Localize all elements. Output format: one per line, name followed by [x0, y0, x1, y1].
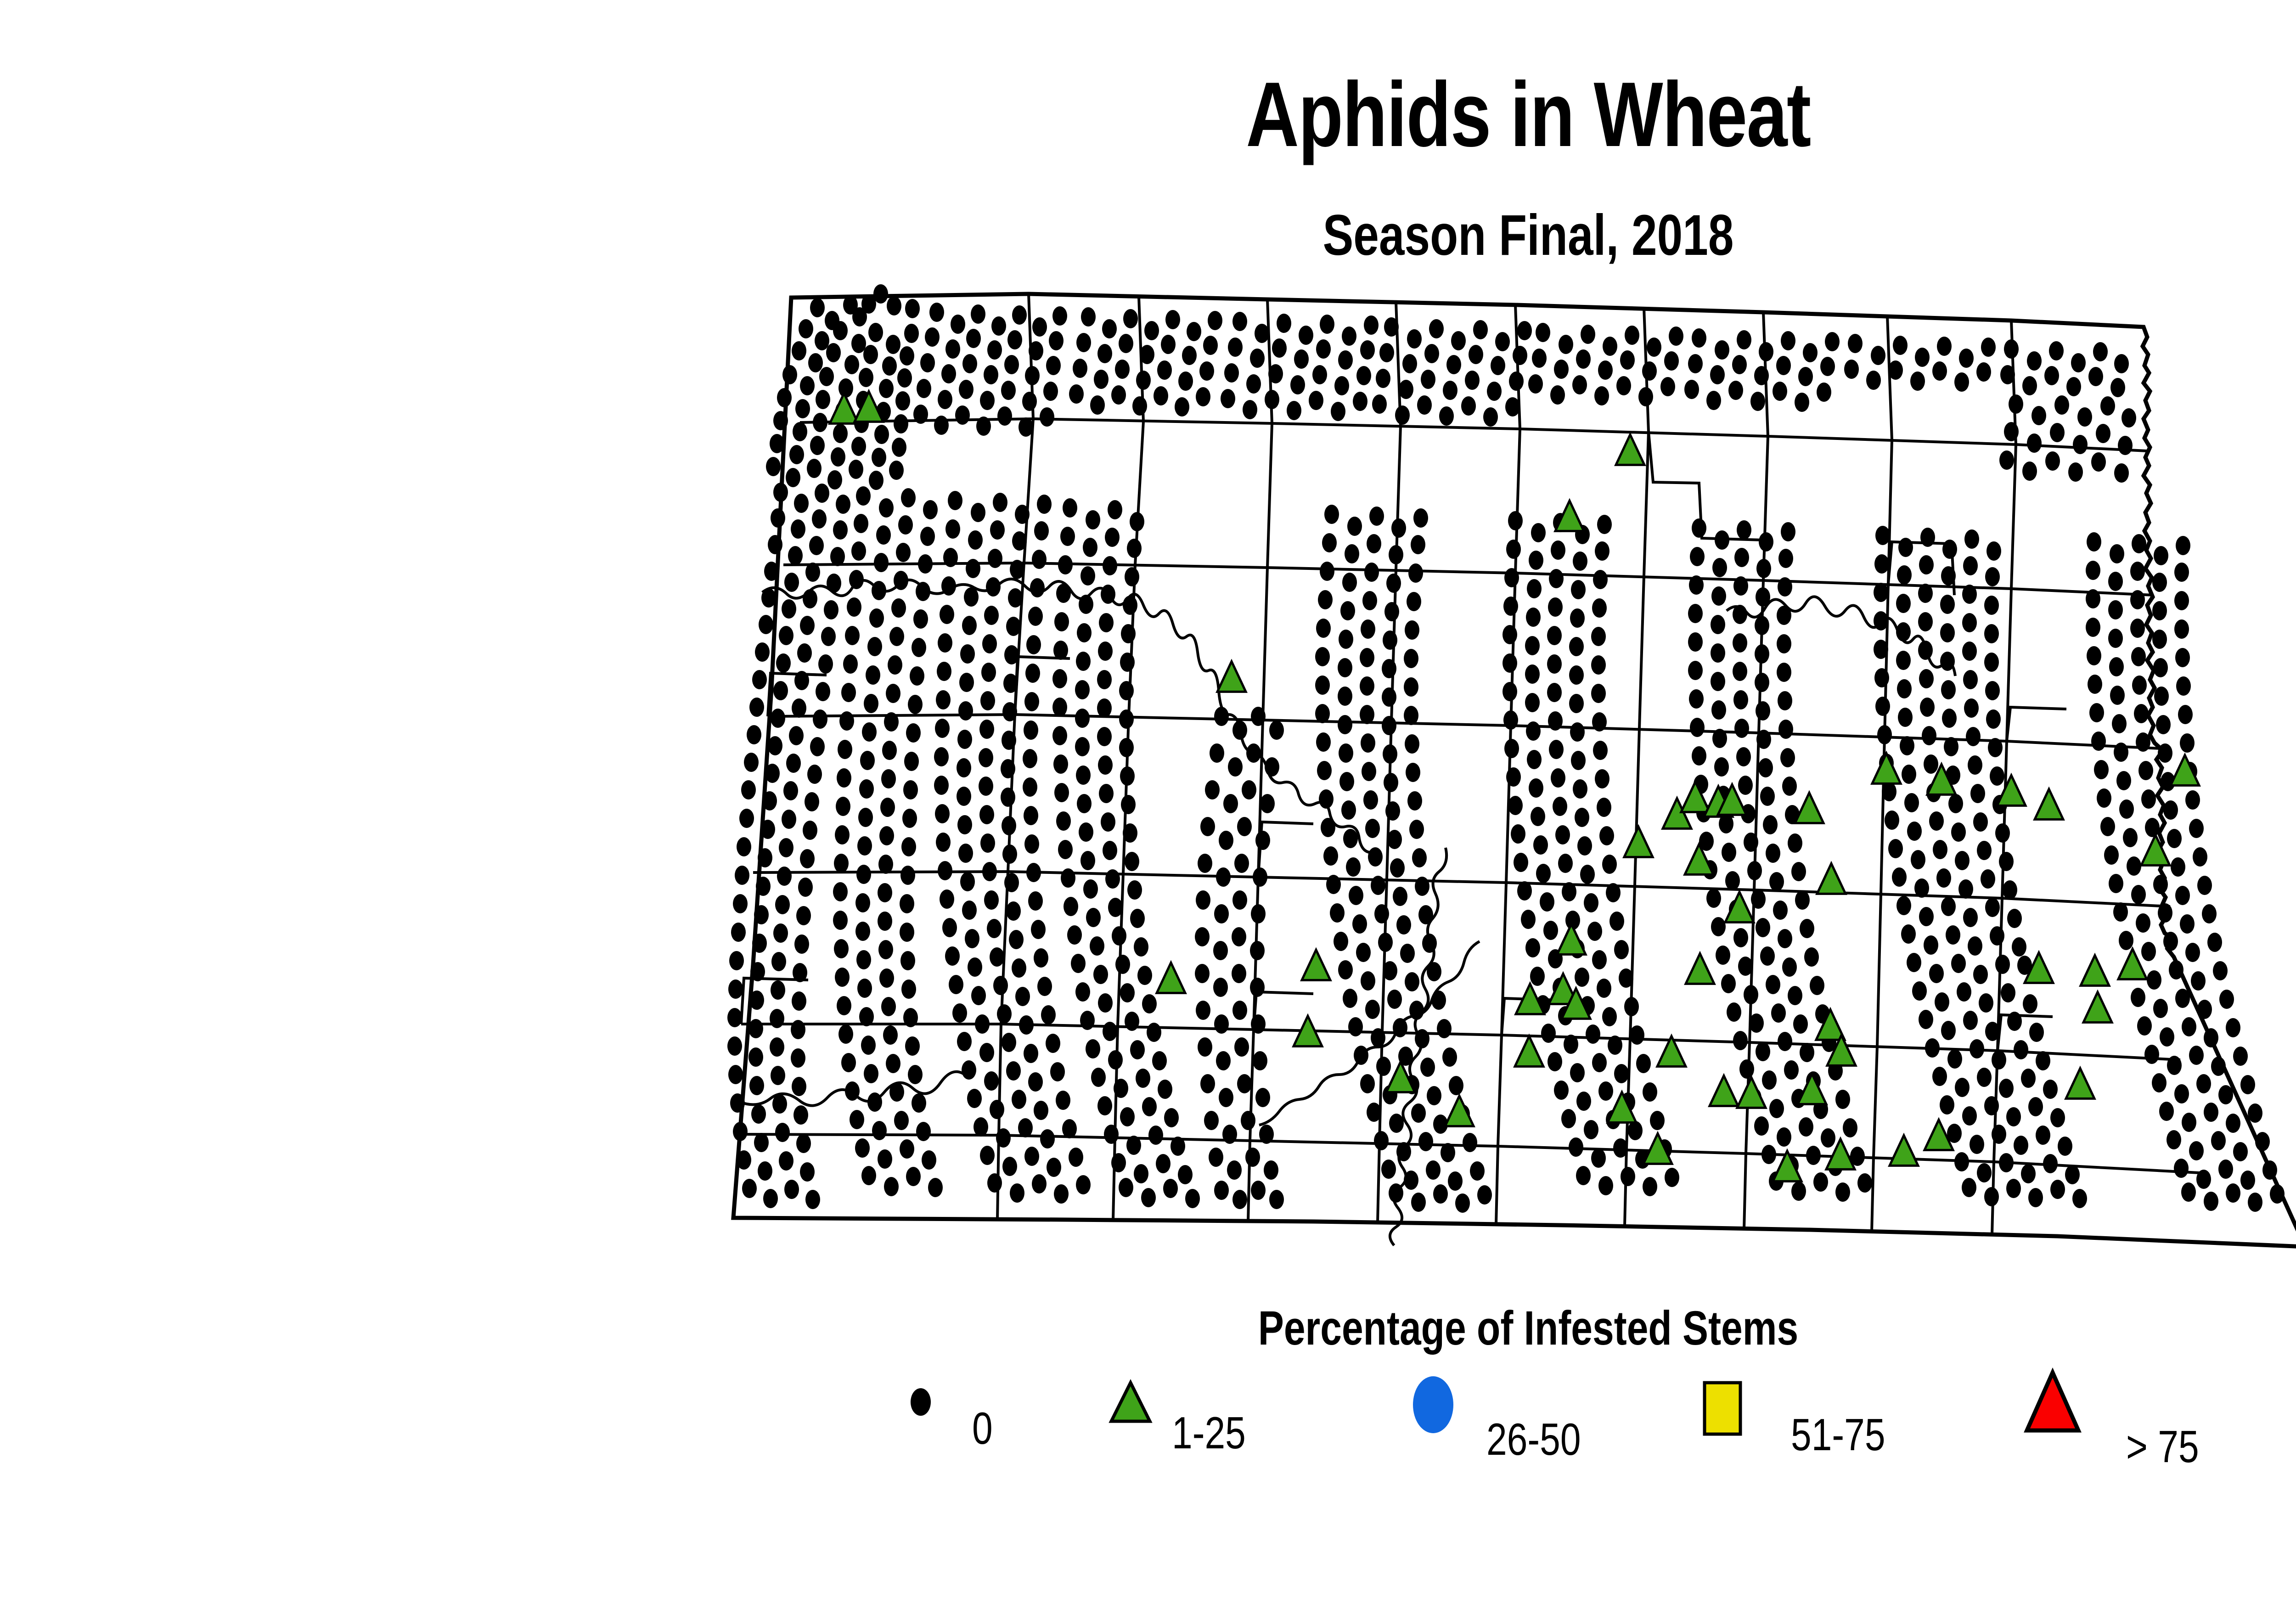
legend: 0 1-25 26-50 51-75 > 75 [0, 1366, 2296, 1458]
data-point [2152, 630, 2167, 649]
data-point [805, 1190, 820, 1209]
data-point [1114, 1079, 1128, 1098]
data-point [862, 722, 877, 742]
data-point [1548, 597, 1563, 617]
data-point [1751, 889, 1766, 909]
data-point [888, 655, 902, 675]
data-point [1554, 1081, 1569, 1100]
data-point [1981, 338, 1996, 357]
data-point [1684, 380, 1699, 399]
data-point [2240, 1075, 2255, 1094]
data-point [938, 390, 952, 409]
data-point [943, 548, 958, 567]
data-point [957, 787, 971, 806]
data-point [1120, 766, 1135, 786]
data-point [1374, 904, 1389, 923]
data-point [859, 779, 874, 799]
data-point [1580, 865, 1595, 884]
data-point [1360, 1074, 1375, 1093]
data-point [809, 536, 824, 555]
data-point [1597, 798, 1611, 817]
data-point [1004, 873, 1019, 892]
data-point [1940, 1095, 1954, 1115]
data-point [2270, 1184, 2285, 1204]
data-point [762, 791, 777, 811]
data-point [984, 1071, 999, 1091]
data-point [1778, 577, 1792, 597]
data-point [1877, 725, 1892, 744]
data-point [836, 495, 850, 514]
data-point [1237, 817, 1252, 836]
data-point [1595, 769, 1609, 788]
data-point [1714, 757, 1729, 777]
data-point [1404, 649, 1418, 668]
data-point [764, 562, 779, 581]
data-point [1024, 1147, 1039, 1166]
data-point [1722, 843, 1736, 862]
data-point [958, 844, 973, 863]
data-point [2233, 1142, 2248, 1161]
data-point [737, 1150, 751, 1170]
data-point [1784, 1060, 1799, 1080]
data-point [748, 1019, 763, 1038]
data-point [1898, 538, 1913, 557]
data-point [1733, 690, 1748, 709]
data-point [1043, 382, 1058, 401]
data-point [1782, 777, 1797, 796]
data-point [1378, 933, 1393, 952]
data-point [1086, 510, 1100, 529]
data-point [2127, 856, 2141, 876]
data-point [2176, 676, 2191, 696]
data-point [827, 574, 841, 593]
data-point [896, 543, 911, 562]
data-point [1736, 747, 1751, 766]
data-point [1575, 808, 1589, 827]
data-point [1555, 825, 1570, 844]
data-point [965, 929, 979, 948]
data-point [1503, 625, 1517, 644]
data-point [1727, 1002, 1741, 1022]
data-point [1955, 1078, 1970, 1097]
data-point [1331, 402, 1345, 421]
data-point [971, 986, 986, 1005]
data-point [1793, 1014, 1808, 1034]
data-point [979, 805, 994, 824]
data-point [1606, 883, 1621, 902]
data-point [1690, 547, 1705, 566]
data-point [1777, 663, 1791, 682]
data-point [755, 642, 770, 662]
data-point [1214, 1181, 1229, 1200]
data-point [1755, 673, 1769, 692]
data-point [1053, 754, 1068, 774]
data-point [967, 1089, 982, 1108]
data-point [878, 912, 892, 931]
data-point [2141, 789, 2156, 809]
data-point [1941, 566, 1956, 585]
data-point [1384, 602, 1399, 621]
data-point [2068, 462, 2083, 482]
data-point [2044, 366, 2059, 385]
data-point [1342, 573, 1357, 592]
data-point [2086, 589, 2100, 608]
data-point [1097, 344, 1112, 363]
data-point [874, 553, 889, 572]
data-point [1733, 1031, 1748, 1050]
data-point [1728, 381, 1743, 400]
data-point [1251, 904, 1266, 923]
data-point [1985, 567, 2000, 586]
data-point [1374, 1131, 1389, 1150]
data-point [1237, 1074, 1252, 1093]
data-point [916, 1122, 931, 1141]
data-point [1874, 668, 1889, 687]
data-point [771, 1066, 785, 1085]
data-point [1451, 331, 1466, 350]
data-point [1918, 641, 1933, 660]
data-point [2207, 933, 2222, 952]
data-point [1213, 978, 1228, 997]
data-point [869, 471, 884, 490]
data-point [1689, 575, 1704, 595]
data-point [1411, 1103, 1426, 1123]
data-point [835, 825, 850, 844]
data-point [902, 809, 917, 828]
data-point [997, 406, 1012, 426]
data-point [766, 457, 781, 476]
data-point [1968, 755, 1982, 775]
data-point [1196, 1001, 1210, 1020]
data-point [940, 605, 954, 624]
data-point [1584, 893, 1598, 912]
data-point [1338, 960, 1353, 980]
data-point [1384, 773, 1398, 792]
data-point [1744, 985, 1758, 1004]
data-point [1429, 319, 1444, 338]
data-point [922, 1150, 936, 1170]
data-point [1067, 925, 1082, 945]
data-point [800, 849, 815, 868]
data-point [810, 298, 825, 317]
data-point [952, 1003, 967, 1023]
data-point [876, 525, 891, 545]
data-point [2211, 1131, 2226, 1150]
data-point [1985, 681, 2000, 700]
data-point [851, 437, 866, 456]
data-point [1046, 1034, 1060, 1053]
data-point [1907, 822, 1922, 841]
data-point [2130, 590, 2145, 609]
data-point [1477, 1185, 1492, 1205]
data-point [1495, 332, 1510, 351]
data-point [798, 878, 813, 897]
data-point [1101, 812, 1115, 832]
data-point [1798, 367, 1813, 386]
data-point [1763, 815, 1778, 834]
data-point [1506, 767, 1521, 787]
data-point [1290, 375, 1305, 394]
county-line-v-59 [1496, 1146, 1498, 1224]
data-point [1595, 541, 1609, 561]
data-point [1103, 1022, 1117, 1041]
data-point [1026, 635, 1041, 654]
data-point [1591, 655, 1606, 675]
data-point [1272, 338, 1287, 358]
data-point [2141, 942, 2156, 961]
data-point [771, 709, 785, 728]
data-point [758, 1161, 772, 1181]
data-point [948, 491, 962, 510]
data-point [1919, 555, 1934, 574]
data-point [1487, 382, 1502, 401]
data-point [1962, 1178, 1976, 1197]
data-point [1338, 350, 1353, 370]
data-point [912, 638, 926, 657]
data-point [849, 570, 864, 589]
data-point [1001, 788, 1015, 807]
data-point [1759, 342, 1773, 361]
data-point [2109, 874, 2123, 893]
data-point [1315, 704, 1330, 723]
data-point [1469, 345, 1483, 364]
data-point [2163, 800, 2178, 820]
data-point [856, 950, 871, 969]
data-point [1777, 606, 1791, 625]
data-point [1195, 927, 1210, 946]
data-point [1023, 749, 1037, 768]
data-point [1346, 857, 1361, 877]
data-point [1104, 1125, 1119, 1144]
data-point [2087, 646, 2101, 665]
data-point [833, 911, 848, 930]
data-point [1431, 991, 1446, 1010]
data-point [1130, 1040, 1145, 1059]
data-point [1990, 766, 2004, 786]
data-point [2167, 1056, 2182, 1075]
data-point [1130, 512, 1144, 531]
data-point [845, 1081, 860, 1101]
data-point [1079, 595, 1093, 614]
data-point [1964, 698, 1979, 718]
data-point [1204, 1111, 1219, 1130]
data-point [897, 368, 912, 388]
data-point [2131, 885, 2146, 904]
data-point [1144, 321, 1159, 340]
data-point [1387, 990, 1402, 1009]
data-point [1525, 693, 1540, 712]
data-point [2226, 1114, 2240, 1133]
data-point [990, 1100, 1004, 1119]
data-point [833, 520, 848, 540]
data-point [1875, 697, 1890, 716]
data-point [881, 997, 896, 1016]
data-point [1558, 854, 1573, 873]
data-point [1120, 1107, 1135, 1126]
data-point [859, 1007, 874, 1026]
data-point [1803, 343, 1818, 362]
data-point [1234, 1037, 1249, 1057]
data-point [1977, 1163, 1992, 1182]
data-point [1721, 974, 1736, 993]
data-point [772, 1094, 787, 1114]
data-point [1744, 833, 1758, 852]
data-point [1365, 1000, 1380, 1019]
data-point [942, 918, 957, 937]
data-point [1411, 535, 1425, 554]
data-point [923, 500, 938, 519]
data-point [1250, 941, 1265, 960]
data-point [1773, 901, 1788, 920]
data-point [735, 866, 749, 885]
data-point [1940, 595, 1955, 614]
data-point [1920, 698, 1935, 717]
data-point [1002, 702, 1017, 721]
data-point [1530, 967, 1545, 986]
data-point [2196, 1074, 2211, 1093]
data-point [900, 866, 915, 885]
data-point [2248, 1193, 2262, 1212]
data-point [1390, 858, 1405, 878]
data-point [1441, 1143, 1455, 1162]
data-point [739, 809, 754, 828]
data-point [2007, 909, 2022, 928]
data-point [1977, 1068, 1992, 1087]
data-point [1614, 940, 1629, 959]
data-point [935, 719, 950, 738]
data-point [1130, 909, 1145, 928]
data-point [1532, 349, 1547, 368]
data-point [2014, 1136, 2028, 1155]
data-point [863, 345, 878, 364]
data-point [900, 1139, 914, 1159]
data-point [748, 1047, 763, 1067]
data-point [2132, 534, 2146, 553]
data-point [1897, 679, 1912, 698]
data-point [1517, 881, 1532, 901]
data-point [1077, 794, 1092, 813]
data-point [1825, 332, 1840, 351]
data-point [918, 554, 933, 574]
data-point [1341, 800, 1356, 820]
data-point [2109, 657, 2124, 676]
data-point [1964, 529, 1979, 549]
data-point [1362, 591, 1377, 610]
data-point [1455, 1193, 1470, 1213]
data-point [1053, 641, 1068, 660]
data-point [1152, 1051, 1167, 1070]
data-point [1963, 670, 1978, 689]
data-point [1389, 545, 1403, 564]
data-point [1108, 898, 1123, 917]
data-point [1573, 552, 1587, 571]
data-point [1592, 1053, 1607, 1072]
data-point [980, 691, 995, 710]
data-point [1361, 619, 1375, 639]
legend-label-4: > 75 [2126, 1424, 2199, 1469]
data-point [1857, 1173, 1872, 1193]
data-point [1383, 961, 1397, 980]
data-point [1210, 743, 1224, 763]
data-point [895, 391, 910, 411]
data-point [2001, 983, 2015, 1002]
data-point [1200, 1074, 1215, 1093]
data-point [1985, 1022, 2000, 1041]
data-point [1147, 1023, 1161, 1042]
data-point [1056, 1091, 1070, 1110]
data-point [2145, 818, 2160, 837]
data-point [730, 1093, 745, 1113]
data-point [2071, 353, 2086, 372]
data-point [1309, 391, 1323, 410]
data-point [1973, 965, 1988, 984]
data-point [1382, 687, 1396, 707]
data-point [2093, 342, 2108, 361]
legend-item-1[interactable]: 1-25 [1102, 1366, 1359, 1458]
data-point [1660, 377, 1675, 396]
data-point [824, 600, 838, 619]
data-point [751, 1104, 766, 1124]
data-point [913, 405, 928, 424]
data-point [1725, 871, 1740, 890]
data-point [1362, 762, 1376, 781]
data-point [1688, 354, 1703, 373]
data-point [1058, 555, 1073, 574]
data-point [791, 519, 805, 539]
data-point [889, 461, 904, 480]
data-point [1608, 1036, 1622, 1055]
data-point [744, 753, 759, 772]
data-point [1999, 1153, 2014, 1172]
data-point [1075, 982, 1090, 1002]
data-point [1361, 971, 1375, 991]
data-point [1214, 707, 1229, 726]
data-point [749, 698, 764, 717]
data-point [1091, 1068, 1106, 1087]
data-point [818, 654, 833, 674]
legend-item-2[interactable]: 26-50 [1403, 1366, 1688, 1458]
data-point [1334, 376, 1349, 395]
data-point [1032, 1174, 1047, 1193]
data-point [910, 666, 924, 686]
legend-item-4[interactable]: > 75 [2007, 1366, 2291, 1458]
data-point [1054, 1184, 1069, 1204]
data-point [1591, 684, 1606, 703]
data-point [1367, 534, 1381, 553]
data-point [821, 627, 836, 646]
data-point [754, 1133, 769, 1152]
data-point [1060, 527, 1075, 546]
data-point [1232, 1001, 1247, 1020]
data-point [1897, 565, 1912, 585]
data-point [1365, 819, 1380, 838]
data-point [901, 837, 916, 856]
data-point [858, 808, 873, 827]
data-point [1086, 908, 1101, 927]
data-point [1330, 903, 1345, 923]
data-point [1001, 759, 1015, 778]
data-point [1760, 787, 1775, 806]
data-point [1069, 1148, 1083, 1167]
data-point [1549, 740, 1564, 759]
data-point [880, 798, 895, 817]
data-point [2189, 819, 2204, 838]
data-point [1505, 397, 1520, 417]
data-point [1592, 950, 1607, 969]
data-point [1134, 937, 1148, 957]
legend-item-3[interactable]: 51-75 [1681, 1366, 1965, 1458]
data-point [2180, 733, 2195, 753]
